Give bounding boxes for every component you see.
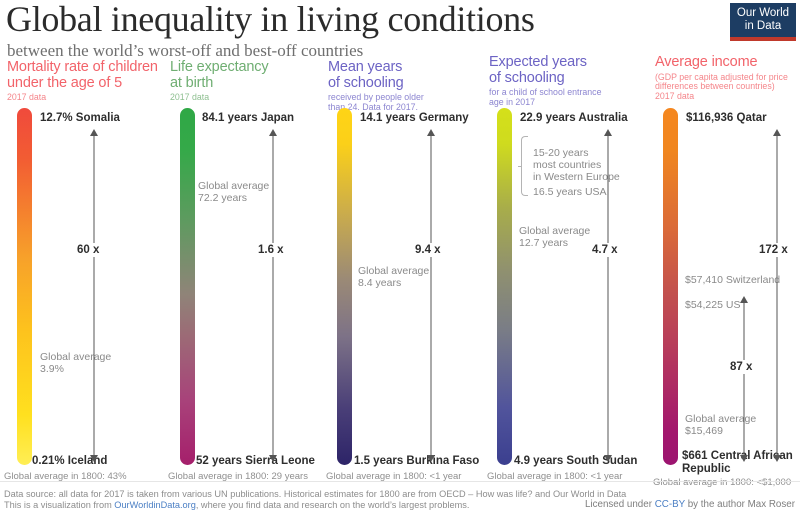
- bar-life-expectancy: [180, 108, 195, 465]
- bar-top-value-life-expectancy: 84.1 years Japan: [202, 112, 294, 124]
- switzerland-annotation-average-income: $57,410 Switzerland: [685, 274, 780, 286]
- footer-attribution-suffix: , where you find data and research on th…: [196, 500, 470, 510]
- western-europe-bracket: [521, 136, 528, 196]
- bar-bottom-value-life-expectancy: 52 years Sierra Leone: [196, 455, 315, 468]
- ratio-label-life-expectancy: 1.6 x: [255, 243, 287, 257]
- global-average-line-2: 8.4 years: [358, 277, 429, 289]
- ratio-label-mean-years-schooling: 9.4 x: [412, 243, 444, 257]
- logo-line-2: in Data: [733, 20, 793, 33]
- ratio-arrow-average-income-primary: [770, 129, 784, 462]
- bar-bottom-value-mean-years-schooling: 1.5 years Burkina Faso: [354, 455, 479, 468]
- column-note: 2017 data: [7, 93, 162, 103]
- bar-bottom-value-line-2: Republic: [682, 463, 793, 476]
- bar-mean-years-schooling: [337, 108, 352, 465]
- page-subtitle: between the world’s worst-off and best-o…: [7, 41, 363, 61]
- column-note-line-2: age in 2017: [489, 98, 649, 108]
- column-title-line-1: Life expectancy: [170, 60, 320, 76]
- global-average-line-1: Global average: [358, 265, 429, 277]
- column-average-income: Average income (GDP per capita adjusted …: [655, 55, 800, 101]
- logo-line-1: Our World: [733, 7, 793, 20]
- column-note-line-2: than 24. Data for 2017.: [328, 103, 483, 113]
- footer-source-line: Data source: all data for 2017 is taken …: [4, 489, 626, 499]
- global-average-life-expectancy: Global average 72.2 years: [198, 180, 269, 204]
- global-average-line-2: 12.7 years: [519, 237, 590, 249]
- bar-expected-years-schooling: [497, 108, 512, 465]
- bar-child-mortality: [17, 108, 32, 465]
- column-note-line-3: 2017 data: [655, 92, 800, 102]
- global-average-expected-years-schooling: Global average 12.7 years: [519, 225, 590, 249]
- us-annotation-average-income: $54,225 US: [685, 299, 740, 311]
- cc-by-license-link[interactable]: CC-BY: [655, 499, 685, 510]
- ratio-label-average-income-secondary: 87 x: [727, 360, 755, 374]
- bar-top-value-expected-years-schooling: 22.9 years Australia: [520, 112, 628, 124]
- global-average-mean-years-schooling: Global average 8.4 years: [358, 265, 429, 289]
- usa-annotation-expected-years-schooling: 16.5 years USA: [533, 186, 607, 198]
- footer-attribution-prefix: This is a visualization from: [4, 500, 114, 510]
- column-title-line-2: of schooling: [489, 71, 649, 87]
- bar-top-value-average-income: $116,936 Qatar: [686, 112, 767, 124]
- footer-divider: [0, 481, 800, 482]
- bar-bottom-value-expected-years-schooling: 4.9 years South Sudan: [514, 455, 637, 468]
- ratio-arrow-mean-years-schooling: [424, 129, 438, 462]
- ratio-label-average-income-primary: 172 x: [756, 243, 791, 257]
- ratio-label-expected-years-schooling: 4.7 x: [589, 243, 621, 257]
- ratio-label-child-mortality: 60 x: [74, 243, 102, 257]
- bar-top-value-mean-years-schooling: 14.1 years Germany: [360, 112, 469, 124]
- column-title-line-2: under the age of 5: [7, 76, 162, 92]
- footer-attribution-line: This is a visualization from OurWorldinD…: [4, 500, 469, 510]
- license-prefix: Licensed under: [585, 499, 655, 510]
- column-title-line-1: Mean years: [328, 60, 483, 76]
- column-title-line-1: Expected years: [489, 55, 649, 71]
- ratio-arrow-expected-years-schooling: [601, 129, 615, 462]
- column-child-mortality: Mortality rate of children under the age…: [7, 60, 162, 103]
- footer-license-line: Licensed under CC-BY by the author Max R…: [585, 499, 795, 510]
- column-mean-years-schooling: Mean years of schooling received by peop…: [328, 60, 483, 112]
- column-expected-years-schooling: Expected years of schooling for a child …: [489, 55, 649, 107]
- column-title-line-1: Average income: [655, 55, 800, 71]
- footnote-1800-average-income: Global average in 1800: <$1,000: [653, 477, 791, 488]
- ratio-arrow-average-income-secondary: [737, 296, 751, 462]
- page-title: Global inequality in living conditions: [6, 0, 535, 40]
- logo-accent-bar: [730, 37, 796, 41]
- column-title-line-2: at birth: [170, 76, 320, 92]
- global-average-line-2: 72.2 years: [198, 192, 269, 204]
- column-title-line-1: Mortality rate of children: [7, 60, 162, 76]
- column-life-expectancy: Life expectancy at birth 2017 data: [170, 60, 320, 103]
- global-average-line-1: Global average: [198, 180, 269, 192]
- ratio-arrow-child-mortality: [87, 129, 101, 462]
- bar-top-value-child-mortality: 12.7% Somalia: [40, 112, 120, 124]
- owid-website-link[interactable]: OurWorldinData.org: [114, 500, 196, 510]
- column-title-line-2: of schooling: [328, 76, 483, 92]
- bar-average-income: [663, 108, 678, 465]
- our-world-in-data-logo[interactable]: Our World in Data: [730, 3, 796, 41]
- ratio-arrow-life-expectancy: [266, 129, 280, 462]
- license-suffix: by the author Max Roser: [685, 499, 795, 510]
- global-average-line-1: Global average: [519, 225, 590, 237]
- column-note: 2017 data: [170, 93, 320, 103]
